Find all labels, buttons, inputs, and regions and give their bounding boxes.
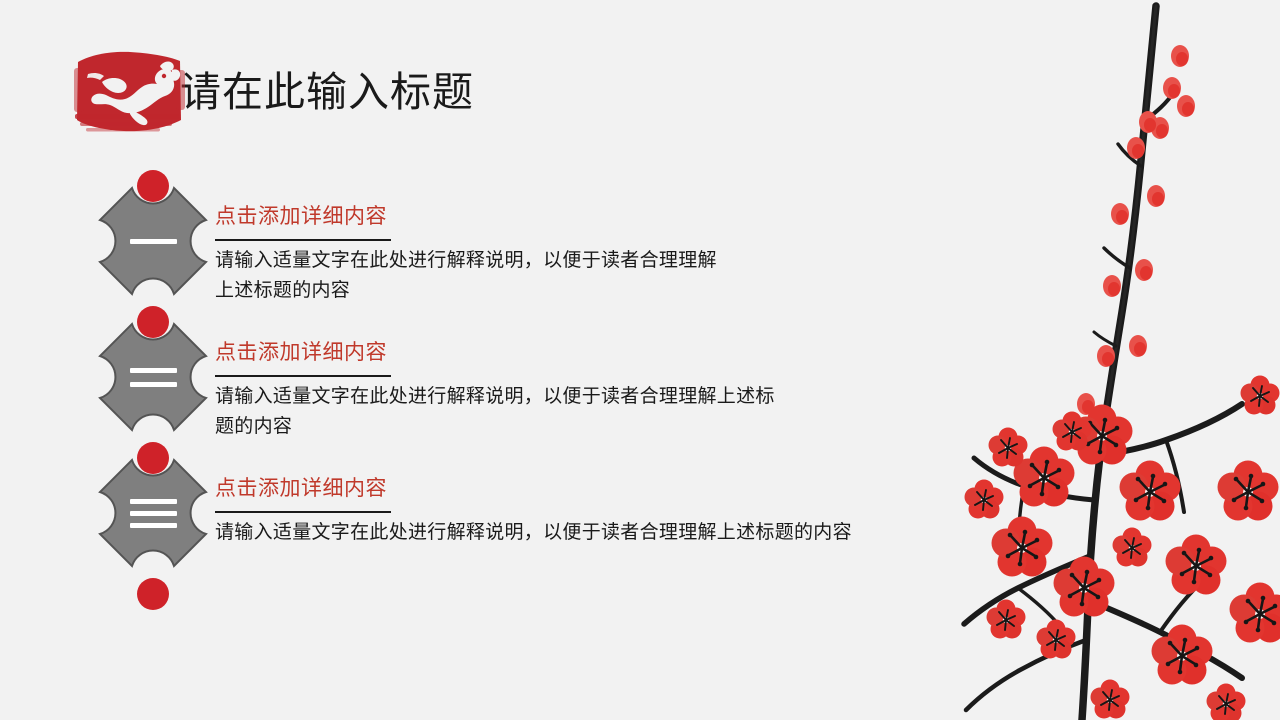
item-body[interactable]: 请输入适量文字在此处进行解释说明，以便于读者合理理解上述标题的内容 <box>215 382 785 441</box>
item-text-block: 点击添加详细内容 请输入适量文字在此处进行解释说明，以便于读者合理理解上述标题的… <box>215 340 955 441</box>
numeral-badge-2[interactable] <box>98 322 208 432</box>
numeral-stroke <box>130 499 177 504</box>
list-item[interactable]: 点击添加详细内容 请输入适量文字在此处进行解释说明，以便于读者合理理解上述标题的… <box>0 186 960 322</box>
numeral-stroke <box>130 382 177 387</box>
slide-canvas: 请在此输入标题 点击添加详细内容 请输入适量文字在此处进行解释说明，以便于读者合… <box>0 0 1280 720</box>
list-item[interactable]: 点击添加详细内容 请输入适量文字在此处进行解释说明，以便于读者合理理解上述标题的… <box>0 458 960 594</box>
item-heading[interactable]: 点击添加详细内容 <box>215 204 955 230</box>
connector-dot-end <box>137 578 169 610</box>
item-heading[interactable]: 点击添加详细内容 <box>215 476 955 502</box>
ink-plum-blossom-branch-artwork <box>960 0 1280 720</box>
numeral-stroke <box>130 368 177 373</box>
item-text-block: 点击添加详细内容 请输入适量文字在此处进行解释说明，以便于读者合理理解上述标题的… <box>215 476 955 548</box>
numeral-stroke <box>130 523 177 528</box>
list-item[interactable]: 点击添加详细内容 请输入适量文字在此处进行解释说明，以便于读者合理理解上述标题的… <box>0 322 960 458</box>
item-divider <box>215 239 391 241</box>
item-body[interactable]: 请输入适量文字在此处进行解释说明，以便于读者合理理解上述标题的内容 <box>215 246 720 305</box>
dragon-seal-stamp-icon <box>72 48 186 136</box>
item-body[interactable]: 请输入适量文字在此处进行解释说明，以便于读者合理理解上述标题的内容 <box>215 518 865 547</box>
item-text-block: 点击添加详细内容 请输入适量文字在此处进行解释说明，以便于读者合理理解上述标题的… <box>215 204 955 305</box>
numeral-badge-1[interactable] <box>98 186 208 296</box>
item-divider <box>215 511 391 513</box>
numeral-one <box>98 186 208 296</box>
slide-header: 请在此输入标题 <box>72 44 474 140</box>
item-divider <box>215 375 391 377</box>
numeral-stroke <box>130 511 177 516</box>
page-title: 请在此输入标题 <box>180 72 474 113</box>
item-heading[interactable]: 点击添加详细内容 <box>215 340 955 366</box>
content-list: 点击添加详细内容 请输入适量文字在此处进行解释说明，以便于读者合理理解上述标题的… <box>0 186 960 594</box>
numeral-two <box>98 322 208 432</box>
numeral-stroke <box>130 239 177 244</box>
numeral-three <box>98 458 208 568</box>
numeral-badge-3[interactable] <box>98 458 208 568</box>
